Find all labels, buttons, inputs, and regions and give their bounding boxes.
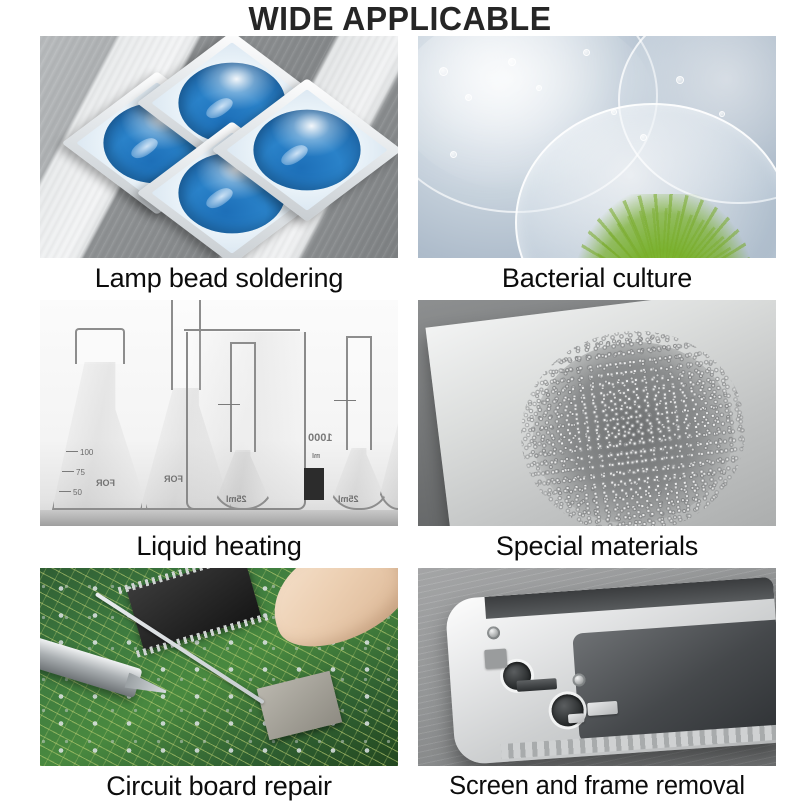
bubble-icon	[536, 85, 542, 91]
caption-screen-and-frame-removal: Screen and frame removal	[418, 766, 776, 806]
page-title: WIDE APPLICABLE	[12, 2, 788, 36]
flask-brand-label: FOR	[96, 478, 115, 488]
beaker-volume-label: 1000	[308, 432, 332, 444]
grid-row-3: Circuit board repair	[40, 568, 776, 806]
bubble-icon	[465, 94, 472, 101]
application-grid: Lamp bead soldering	[40, 36, 776, 806]
flask-volume-label: 25ml	[338, 494, 359, 504]
cell-bacterial-culture[interactable]: Bacterial culture	[418, 36, 776, 298]
caption-special-materials: Special materials	[418, 526, 776, 566]
phone-frame	[445, 577, 776, 766]
bubble-icon	[640, 134, 647, 141]
cell-special-materials[interactable]: Special materials	[418, 300, 776, 566]
photo-bacterial-culture	[418, 36, 776, 258]
cell-circuit-board-repair[interactable]: Circuit board repair	[40, 568, 398, 806]
erlenmeyer-flask-icon: 100 75 50 FOR	[52, 362, 148, 510]
caption-bacterial-culture: Bacterial culture	[418, 258, 776, 298]
beaker-unit-label: ml	[312, 453, 320, 460]
caption-liquid-heating: Liquid heating	[40, 526, 398, 566]
frame-top-rail	[484, 577, 775, 619]
screw-icon	[486, 626, 500, 640]
infographic-page: WIDE APPLICABLE Lamp bead soldering	[0, 0, 800, 800]
bubble-icon	[583, 49, 590, 56]
bracket	[485, 649, 508, 669]
caption-lamp-bead-soldering: Lamp bead soldering	[40, 258, 398, 298]
bubble-icon	[508, 58, 516, 66]
bracket	[568, 713, 585, 723]
cell-lamp-bead-soldering[interactable]: Lamp bead soldering	[40, 36, 398, 298]
metal-plate	[426, 300, 776, 526]
photo-liquid-heating: 100 75 50 FOR FOR	[40, 300, 398, 526]
algae-culture	[577, 194, 751, 258]
cell-screen-and-frame-removal[interactable]: Screen and frame removal	[418, 568, 776, 806]
flask-tick-50: 50	[73, 488, 82, 497]
photo-circuit-board-repair	[40, 568, 398, 766]
screen-area	[573, 620, 776, 744]
bubble-icon	[676, 76, 684, 84]
bracket	[587, 701, 618, 716]
flask-brand-label: FOR	[164, 474, 183, 484]
grid-row-2: 100 75 50 FOR FOR	[40, 300, 776, 566]
photo-special-materials	[418, 300, 776, 526]
photo-screen-and-frame-removal	[418, 568, 776, 766]
photo-lamp-bead-soldering	[40, 36, 398, 258]
flask-tick-100: 100	[80, 448, 93, 457]
beaker-label-block	[304, 468, 324, 500]
flask-volume-label: 25ml	[226, 494, 247, 504]
grid-row-1: Lamp bead soldering	[40, 36, 776, 298]
metal-pellets	[523, 330, 744, 526]
volumetric-flask-icon	[376, 422, 398, 510]
connector	[517, 678, 558, 692]
caption-circuit-board-repair: Circuit board repair	[40, 766, 398, 806]
cell-liquid-heating[interactable]: 100 75 50 FOR FOR	[40, 300, 398, 566]
volumetric-flask-icon: 25ml	[212, 450, 274, 510]
flask-tick-75: 75	[76, 468, 85, 477]
table-surface	[40, 510, 398, 526]
